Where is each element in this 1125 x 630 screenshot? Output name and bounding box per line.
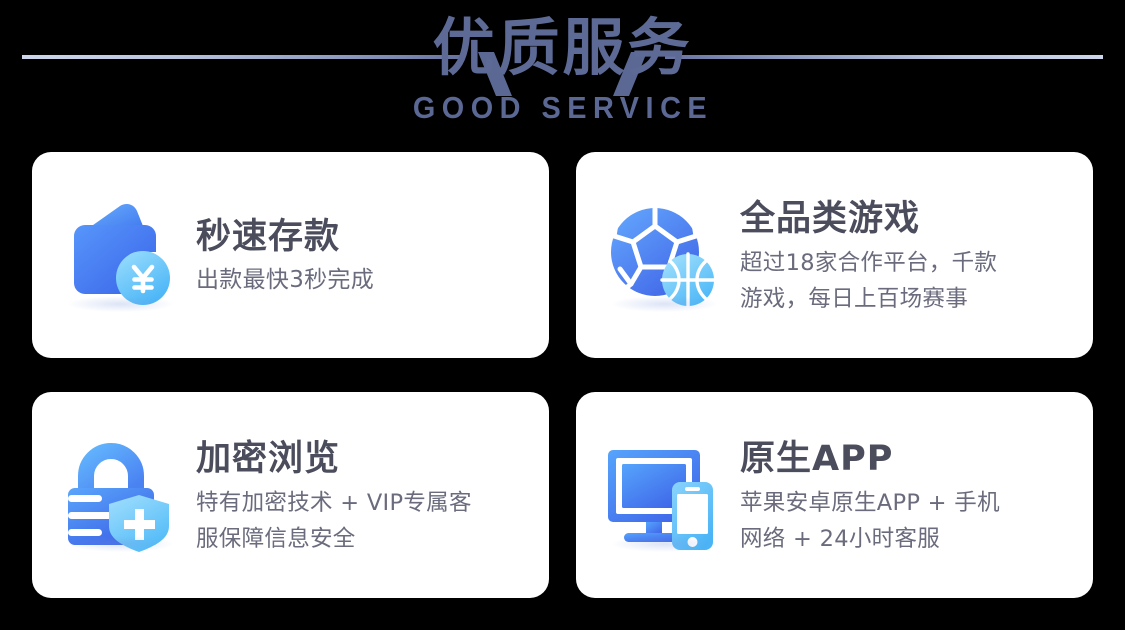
feature-card-encryption[interactable]: 加密浏览 特有加密技术 + VIP专属客 服保障信息安全 [32, 392, 549, 598]
card-description: 超过18家合作平台，千款 游戏，每日上百场赛事 [740, 245, 1071, 317]
wallet-yen-icon [58, 194, 180, 316]
header-title-group: 优质服务 GOOD SERVICE [353, 6, 773, 126]
feature-card-games[interactable]: 全品类游戏 超过18家合作平台，千款 游戏，每日上百场赛事 [576, 152, 1093, 358]
feature-card-grid: 秒速存款 出款最快3秒完成 [32, 152, 1093, 598]
card-title: 原生APP [740, 436, 1071, 482]
page-title: 优质服务 [353, 6, 773, 90]
promo-page: 优质服务 GOOD SERVICE [0, 0, 1125, 630]
icon-shadow [68, 296, 173, 312]
card-description: 出款最快3秒完成 [196, 263, 527, 298]
card-description: 特有加密技术 + VIP专属客 服保障信息安全 [196, 485, 527, 557]
page-header: 优质服务 GOOD SERVICE [0, 0, 1125, 140]
card-text-block: 秒速存款 出款最快3秒完成 [196, 212, 527, 298]
lock-shield-icon [58, 434, 180, 556]
card-title: 全品类游戏 [740, 196, 1071, 242]
soccer-basketball-icon [602, 194, 724, 316]
card-text-block: 全品类游戏 超过18家合作平台，千款 游戏，每日上百场赛事 [740, 194, 1071, 317]
feature-card-deposit[interactable]: 秒速存款 出款最快3秒完成 [32, 152, 549, 358]
card-title: 加密浏览 [196, 436, 527, 482]
card-text-block: 加密浏览 特有加密技术 + VIP专属客 服保障信息安全 [196, 434, 527, 557]
icon-shadow [612, 296, 717, 312]
icon-shadow [612, 536, 717, 552]
feature-card-native-app[interactable]: 原生APP 苹果安卓原生APP + 手机 网络 + 24小时客服 [576, 392, 1093, 598]
card-description: 苹果安卓原生APP + 手机 网络 + 24小时客服 [740, 485, 1071, 557]
card-title: 秒速存款 [196, 214, 527, 260]
monitor-phone-icon [602, 434, 724, 556]
card-text-block: 原生APP 苹果安卓原生APP + 手机 网络 + 24小时客服 [740, 434, 1071, 557]
icon-shadow [68, 536, 173, 552]
page-subtitle: GOOD SERVICE [367, 90, 758, 126]
